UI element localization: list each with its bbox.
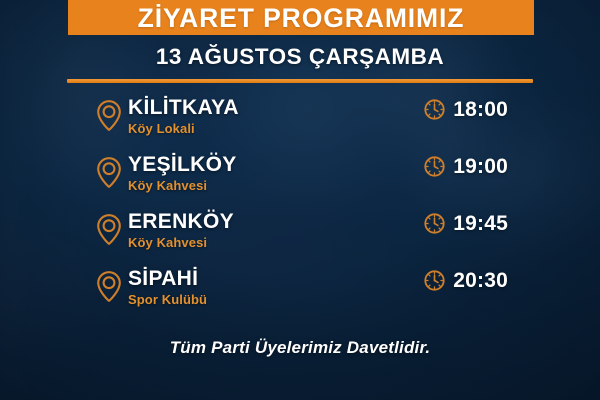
clock-icon bbox=[423, 212, 446, 235]
list-item: SİPAHİ Spor Kulübü bbox=[96, 267, 508, 324]
list-item: KİLİTKAYA Köy Lokali bbox=[96, 96, 508, 153]
place-venue: Köy Kahvesi bbox=[128, 234, 508, 252]
place-venue: Köy Lokali bbox=[128, 120, 508, 138]
map-pin-icon bbox=[96, 96, 128, 132]
map-pin-icon bbox=[96, 267, 128, 303]
time-cell: 19:00 bbox=[423, 155, 508, 178]
map-pin-icon bbox=[96, 153, 128, 189]
time-cell: 18:00 bbox=[423, 98, 508, 121]
divider bbox=[67, 79, 533, 83]
page-title: ZİYARET PROGRAMIMIZ bbox=[138, 5, 465, 32]
map-pin-icon bbox=[96, 210, 128, 246]
visit-program-poster: ZİYARET PROGRAMIMIZ 13 AĞUSTOS ÇARŞAMBA … bbox=[0, 0, 600, 400]
list-item: YEŞİLKÖY Köy Kahvesi bbox=[96, 153, 508, 210]
clock-icon bbox=[423, 269, 446, 292]
time-cell: 19:45 bbox=[423, 212, 508, 235]
place-venue: Köy Kahvesi bbox=[128, 177, 508, 195]
place-venue: Spor Kulübü bbox=[128, 291, 508, 309]
time-value: 20:30 bbox=[453, 270, 508, 291]
time-cell: 20:30 bbox=[423, 269, 508, 292]
time-value: 19:45 bbox=[453, 213, 508, 234]
clock-icon bbox=[423, 98, 446, 121]
schedule-list: KİLİTKAYA Köy Lokali bbox=[96, 96, 508, 324]
list-item: ERENKÖY Köy Kahvesi bbox=[96, 210, 508, 267]
clock-icon bbox=[423, 155, 446, 178]
invitation-note: Tüm Parti Üyelerimiz Davetlidir. bbox=[0, 338, 600, 358]
event-date: 13 AĞUSTOS ÇARŞAMBA bbox=[0, 44, 600, 70]
time-value: 19:00 bbox=[453, 156, 508, 177]
header-band: ZİYARET PROGRAMIMIZ bbox=[68, 0, 534, 35]
time-value: 18:00 bbox=[453, 99, 508, 120]
